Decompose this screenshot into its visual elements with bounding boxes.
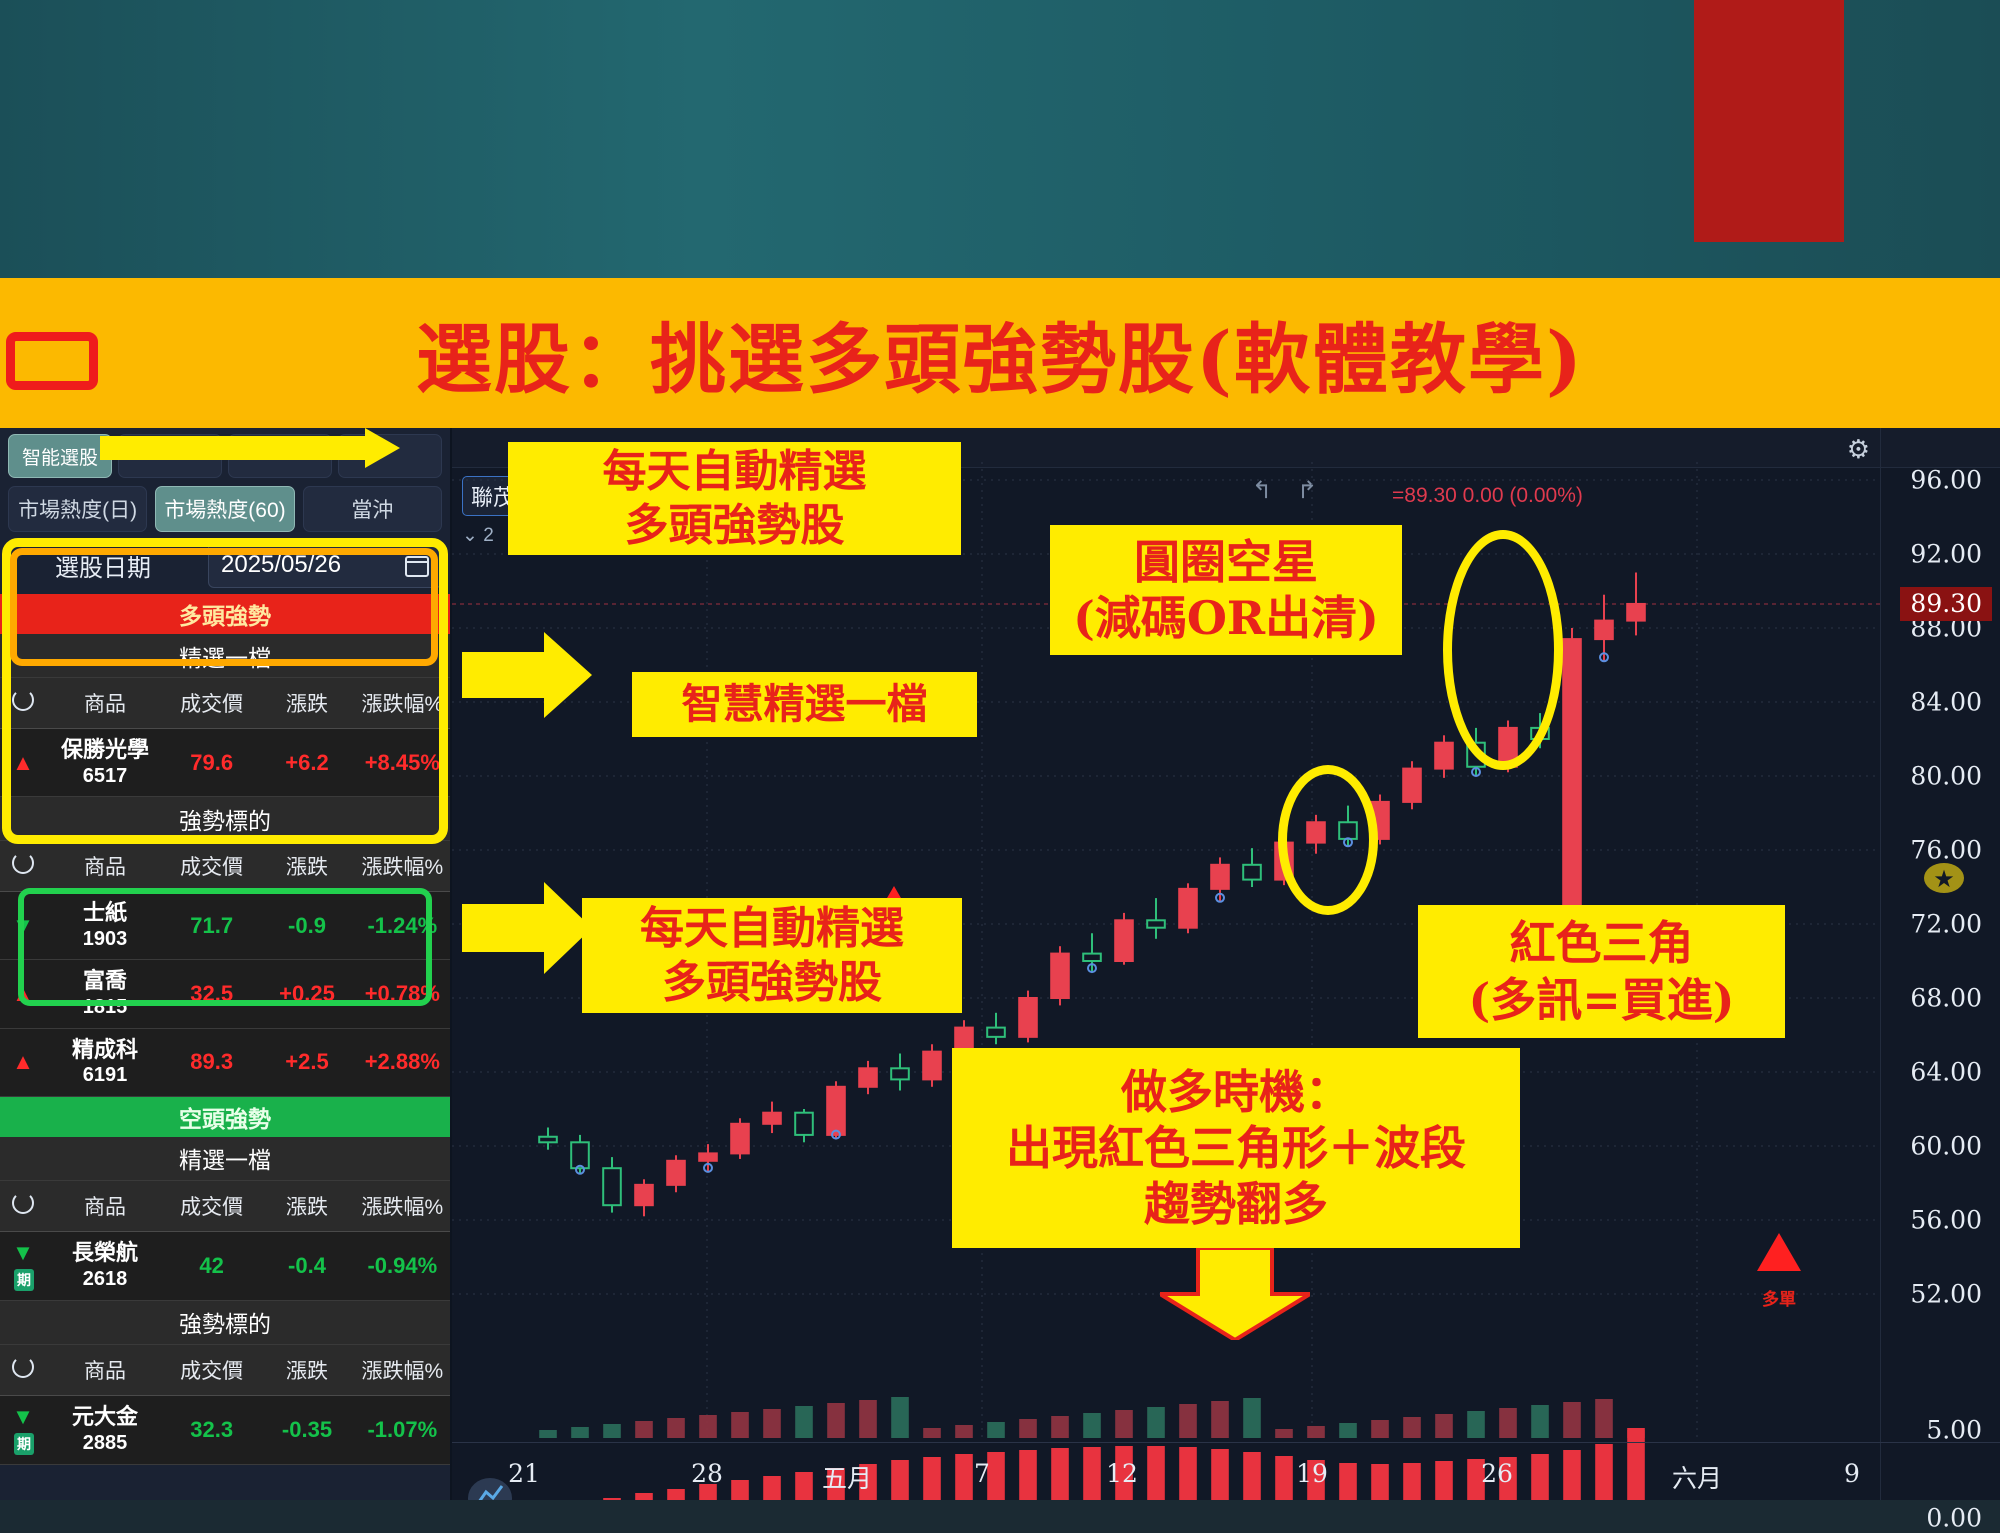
date-tick: 19: [1296, 1459, 1328, 1488]
note-line: (減碼OR出清): [1073, 590, 1379, 646]
date-tick: 28: [691, 1459, 723, 1488]
arrow-glyph: ▼: [12, 1404, 34, 1429]
tab-market-heat-60[interactable]: 市場熱度(60): [155, 486, 294, 532]
arrow-down-to-chart-icon: [1160, 1248, 1310, 1340]
bull-featured-title: 精選一檔: [0, 634, 450, 678]
product-name: 士紙: [48, 900, 162, 927]
desktop-background: [0, 0, 2000, 278]
note-line: 智慧精選一檔: [682, 679, 928, 729]
refresh-icon-cell[interactable]: [0, 1181, 46, 1232]
note-circle-star: 圓圈空星 (減碼OR出清): [1050, 525, 1402, 655]
direction-arrow-icon: ▼期: [0, 1231, 46, 1300]
date-tick: 六月: [1672, 1459, 1722, 1495]
table-header-row: 商品 成交價 漲跌 漲跌幅%: [0, 841, 450, 892]
col-product: 商品: [46, 678, 164, 729]
direction-arrow-icon: ▼期: [0, 1395, 46, 1464]
refresh-icon-cell[interactable]: [0, 1345, 46, 1396]
direction-arrow-icon: ▲: [0, 1028, 46, 1096]
note-line: 圓圈空星: [1134, 534, 1318, 590]
col-price: 成交價: [164, 1345, 259, 1396]
table-header-row: 商品 成交價 漲跌 漲跌幅%: [0, 1181, 450, 1232]
product-cell: 富喬 1815: [46, 960, 164, 1028]
date-axis[interactable]: 2128五月7121926六月9: [452, 1442, 2000, 1500]
note-line: 出現紅色三角形＋波段: [1006, 1120, 1466, 1176]
note-auto-pick-bottom: 每天自動精選 多頭強勢股: [582, 898, 962, 1013]
direction-arrow-icon: ▲: [0, 729, 46, 797]
price-tick: 68.00: [1910, 984, 1982, 1013]
arrow-to-smart-screener-icon: [100, 428, 400, 468]
price-tick: 96.00: [1910, 466, 1982, 495]
date-tick: 9: [1844, 1459, 1860, 1488]
tab-smart-screener[interactable]: 智能選股: [8, 434, 112, 478]
note-smart-one: 智慧精選一檔: [632, 672, 977, 737]
screening-date-label: 選股日期: [8, 548, 198, 583]
price-tick: 92.00: [1910, 540, 1982, 569]
col-change-pct: 漲跌幅%: [355, 841, 450, 892]
product-code: 2618: [48, 1267, 162, 1291]
col-price: 成交價: [164, 1181, 259, 1232]
screening-date-row: 選股日期 2025/05/26: [0, 532, 450, 594]
futures-badge: 期: [14, 1269, 34, 1291]
col-change-pct: 漲跌幅%: [355, 1181, 450, 1232]
refresh-icon[interactable]: [12, 1192, 34, 1214]
price-tick: 72.00: [1910, 910, 1982, 939]
futures-badge: 期: [14, 1433, 34, 1455]
refresh-icon[interactable]: [12, 852, 34, 874]
product-code: 2885: [48, 1431, 162, 1455]
table-row[interactable]: ▼ 士紙 1903 71.7 -0.9 -1.24%: [0, 892, 450, 960]
last-price-tag: 89.30: [1900, 587, 1992, 621]
tab-market-heat-day[interactable]: 市場熱度(日): [8, 486, 147, 532]
product-name: 元大金: [48, 1404, 162, 1431]
refresh-icon[interactable]: [12, 689, 34, 711]
table-header-row: 商品 成交價 漲跌 漲跌幅%: [0, 678, 450, 729]
price-tick: 64.00: [1910, 1058, 1982, 1087]
note-auto-pick-top: 每天自動精選 多頭強勢股: [508, 442, 961, 555]
change-cell: +2.5: [259, 1028, 354, 1096]
product-cell: 元大金 2885: [46, 1395, 164, 1464]
refresh-icon[interactable]: [12, 1356, 34, 1378]
product-code: 6517: [48, 764, 162, 788]
sub-panel-tick: 5.00: [1926, 1416, 1982, 1445]
bear-strong-title: 強勢標的: [0, 1301, 450, 1345]
arrow-glyph: ▼: [12, 1240, 34, 1265]
price-tick: 76.00: [1910, 836, 1982, 865]
bear-featured-table: 商品 成交價 漲跌 漲跌幅% ▼期 長榮航 2618 42 -0.4 -0.94…: [0, 1181, 450, 1301]
date-tick: 21: [508, 1459, 540, 1488]
date-tick: 26: [1481, 1459, 1513, 1488]
section-header-bull: 多頭強勢: [0, 594, 450, 634]
col-product: 商品: [46, 841, 164, 892]
product-cell: 士紙 1903: [46, 892, 164, 960]
red-panel-block: [1694, 0, 1844, 242]
note-long-timing: 做多時機： 出現紅色三角形＋波段 趨勢翻多: [952, 1048, 1520, 1248]
product-cell: 長榮航 2618: [46, 1231, 164, 1300]
price-cell: 32.3: [164, 1395, 259, 1464]
arrow-to-featured-one-icon: [462, 630, 592, 720]
change-cell: +0.25: [259, 960, 354, 1028]
product-name: 保勝光學: [48, 737, 162, 764]
table-row[interactable]: ▲ 富喬 1815 32.5 +0.25 +0.78%: [0, 960, 450, 1028]
svg-text:多單: 多單: [1762, 1289, 1796, 1309]
direction-arrow-icon: ▲: [0, 960, 46, 1028]
note-line: 趨勢翻多: [1144, 1176, 1328, 1232]
col-price: 成交價: [164, 841, 259, 892]
highlight-ellipse-signal-2: [1443, 530, 1563, 770]
price-cell: 89.3: [164, 1028, 259, 1096]
price-tick: 80.00: [1910, 762, 1982, 791]
date-tick: 五月: [822, 1459, 872, 1495]
bull-featured-table: 商品 成交價 漲跌 漲跌幅% ▲ 保勝光學 6517 79.6 +6.2 +8.…: [0, 678, 450, 797]
sub-panel-tick: 0.00: [1926, 1504, 1982, 1533]
bear-strong-table: 商品 成交價 漲跌 漲跌幅% ▼期 元大金 2885 32.3 -0.35 -1…: [0, 1345, 450, 1465]
direction-arrow-icon: ▼: [0, 892, 46, 960]
col-change: 漲跌: [259, 841, 354, 892]
date-tick: 12: [1106, 1459, 1138, 1488]
note-line: 做多時機：: [1121, 1064, 1351, 1120]
note-line: 每天自動精選: [640, 902, 904, 956]
product-code: 1815: [48, 995, 162, 1019]
col-price: 成交價: [164, 678, 259, 729]
price-tick: 56.00: [1910, 1206, 1982, 1235]
table-row[interactable]: ▼期 元大金 2885 32.3 -0.35 -1.07%: [0, 1395, 450, 1464]
price-tick: 60.00: [1910, 1132, 1982, 1161]
note-line: 多頭強勢股: [662, 956, 882, 1010]
highlight-ellipse-signal-1: [1278, 765, 1378, 915]
red-triangle-buy-marker: 多單: [1757, 1233, 1801, 1309]
change-pct-cell: -1.07%: [355, 1395, 450, 1464]
tab-day-trade[interactable]: 當沖: [303, 486, 442, 532]
note-line: 多頭強勢股: [625, 499, 845, 553]
col-product: 商品: [46, 1345, 164, 1396]
bull-strong-title: 強勢標的: [0, 797, 450, 841]
note-line: 每天自動精選: [603, 445, 867, 499]
change-pct-cell: +0.78%: [355, 960, 450, 1028]
product-name: 富喬: [48, 968, 162, 995]
stock-screener-sidebar: 智能選股 市場熱度(日) 市場熱度(60) 當沖 選股日期 2025/05/26…: [0, 428, 452, 1500]
price-cell: 42: [164, 1231, 259, 1300]
price-axis[interactable]: 96.0092.0088.0084.0080.0076.0072.0068.00…: [1880, 428, 2000, 1500]
note-red-triangle: 紅色三角 (多訊=買進): [1418, 905, 1785, 1038]
note-line: (多訊=買進): [1468, 972, 1734, 1028]
refresh-icon-cell[interactable]: [0, 678, 46, 729]
change-pct-cell: -1.24%: [355, 892, 450, 960]
col-change: 漲跌: [259, 1181, 354, 1232]
product-cell: 精成科 6191: [46, 1028, 164, 1096]
note-line: 紅色三角: [1510, 915, 1694, 971]
title-banner: 選股：挑選多頭強勢股(軟體教學): [0, 278, 2000, 428]
change-cell: -0.4: [259, 1231, 354, 1300]
arrow-to-strong-list-icon: [462, 880, 592, 976]
date-tick: 7: [974, 1459, 990, 1488]
bull-strong-table: 商品 成交價 漲跌 漲跌幅% ▼ 士紙 1903 71.7 -0.9 -1.24…: [0, 841, 450, 1097]
product-cell: 保勝光學 6517: [46, 729, 164, 797]
col-change-pct: 漲跌幅%: [355, 1345, 450, 1396]
screening-date-value: 2025/05/26: [221, 551, 341, 579]
table-row[interactable]: ▼期 長榮航 2618 42 -0.4 -0.94%: [0, 1231, 450, 1300]
calendar-icon[interactable]: [405, 553, 429, 577]
price-cell: 79.6: [164, 729, 259, 797]
change-pct-cell: -0.94%: [355, 1231, 450, 1300]
price-cell: 32.5: [164, 960, 259, 1028]
bear-featured-title: 精選一檔: [0, 1137, 450, 1181]
col-product: 商品: [46, 1181, 164, 1232]
product-name: 長榮航: [48, 1240, 162, 1267]
product-name: 精成科: [48, 1037, 162, 1064]
table-header-row: 商品 成交價 漲跌 漲跌幅%: [0, 1345, 450, 1396]
section-header-bear: 空頭強勢: [0, 1097, 450, 1137]
change-pct-cell: +2.88%: [355, 1028, 450, 1096]
change-cell: -0.9: [259, 892, 354, 960]
change-cell: -0.35: [259, 1395, 354, 1464]
product-code: 6191: [48, 1063, 162, 1087]
screening-date-input[interactable]: 2025/05/26: [208, 542, 442, 588]
price-tick: 52.00: [1910, 1280, 1982, 1309]
product-code: 1903: [48, 927, 162, 951]
refresh-icon-cell[interactable]: [0, 841, 46, 892]
change-pct-cell: +8.45%: [355, 729, 450, 797]
col-change-pct: 漲跌幅%: [355, 678, 450, 729]
col-change: 漲跌: [259, 1345, 354, 1396]
change-cell: +6.2: [259, 729, 354, 797]
price-cell: 71.7: [164, 892, 259, 960]
page-title: 選股：挑選多頭強勢股(軟體教學): [416, 298, 1584, 408]
sidebar-tabs-row-2: 市場熱度(日) 市場熱度(60) 當沖: [0, 478, 450, 532]
price-tick: 84.00: [1910, 688, 1982, 717]
col-change: 漲跌: [259, 678, 354, 729]
table-row[interactable]: ▲ 精成科 6191 89.3 +2.5 +2.88%: [0, 1028, 450, 1096]
table-row[interactable]: ▲ 保勝光學 6517 79.6 +6.2 +8.45%: [0, 729, 450, 797]
